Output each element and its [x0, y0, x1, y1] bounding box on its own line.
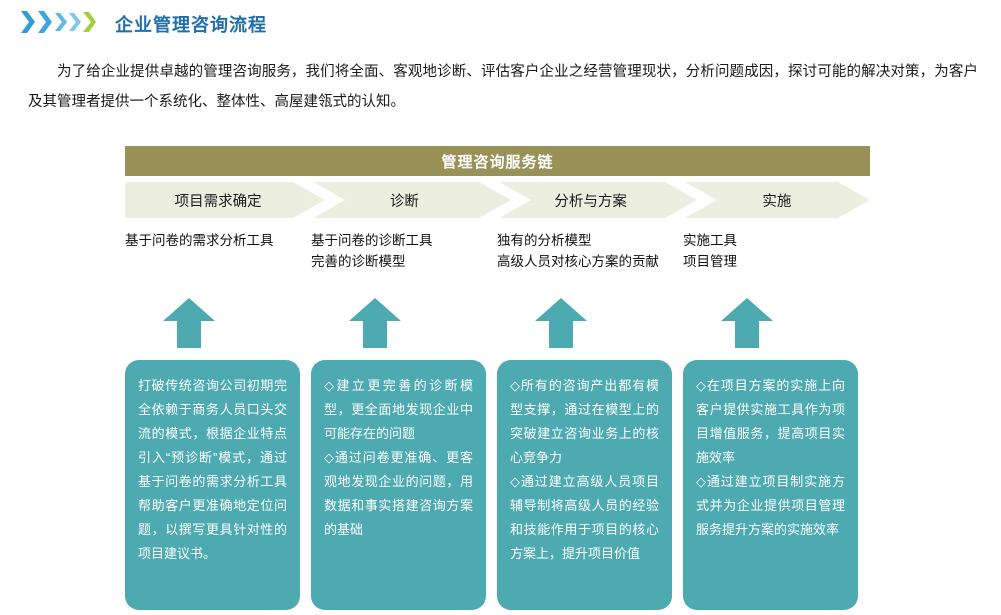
chevron-icon-4: [68, 9, 82, 40]
detail-card-text: ◇建立更完善的诊断模型，更全面地发现企业中可能存在的问题◇通过问卷更准确、更客观…: [324, 374, 473, 542]
service-chain-diagram: 管理咨询服务链 项目需求确定 诊断 分析与方案 实施: [125, 146, 870, 218]
stage-label-3: 分析与方案: [498, 182, 684, 218]
stage-label-2: 诊断: [311, 182, 497, 218]
arrow-up-icon-3: [535, 298, 587, 348]
service-chain-title: 管理咨询服务链: [125, 146, 870, 176]
stage-detail-line: 完善的诊断模型: [311, 251, 497, 272]
stage-detail-line: 基于问卷的需求分析工具: [125, 230, 311, 251]
arrow-up-icon-4: [721, 298, 773, 348]
stage-detail-line: 项目管理: [683, 251, 869, 272]
page-header: 企业管理咨询流程: [0, 0, 1001, 48]
detail-card-4: ◇在项目方案的实施上向客户提供实施工具作为项目增值服务，提高项目实施效率◇通过建…: [683, 360, 858, 610]
stage-detail-columns: 基于问卷的需求分析工具 基于问卷的诊断工具 完善的诊断模型 独有的分析模型 高级…: [125, 230, 885, 272]
detail-card-text: 打破传统咨询公司初期完全依赖于商务人员口头交流的模式，根据企业特点引入“预诊断”…: [138, 374, 287, 566]
stage-detail-line: 实施工具: [683, 230, 869, 251]
detail-card-2: ◇建立更完善的诊断模型，更全面地发现企业中可能存在的问题◇通过问卷更准确、更客观…: [311, 360, 486, 610]
stage-detail-column-3: 独有的分析模型 高级人员对核心方案的贡献: [497, 230, 683, 272]
stage-detail-line: 独有的分析模型: [497, 230, 683, 251]
intro-paragraph: 为了给企业提供卓越的管理咨询服务，我们将全面、客观地诊断、评估客户企业之经营管理…: [28, 57, 978, 117]
stage-arrow-band: 项目需求确定 诊断 分析与方案 实施: [125, 182, 870, 218]
detail-card-text: ◇所有的咨询产出都有模型支撑，通过在模型上的突破建立咨询业务上的核心竞争力◇通过…: [510, 374, 659, 566]
chevron-icon-3: [54, 9, 68, 40]
detail-card-text: ◇在项目方案的实施上向客户提供实施工具作为项目增值服务，提高项目实施效率◇通过建…: [696, 374, 845, 542]
stage-detail-column-4: 实施工具 项目管理: [683, 230, 869, 272]
stage-detail-line: 高级人员对核心方案的贡献: [497, 251, 683, 272]
page-title: 企业管理咨询流程: [115, 11, 267, 37]
detail-card-1: 打破传统咨询公司初期完全依赖于商务人员口头交流的模式，根据企业特点引入“预诊断”…: [125, 360, 300, 610]
detail-card-row: 打破传统咨询公司初期完全依赖于商务人员口头交流的模式，根据企业特点引入“预诊断”…: [125, 360, 890, 610]
stage-label-1: 项目需求确定: [125, 182, 311, 218]
arrow-up-icon-1: [163, 298, 215, 348]
stage-label-4: 实施: [684, 182, 870, 218]
stage-detail-line: 基于问卷的诊断工具: [311, 230, 497, 251]
chevron-icon-1: [20, 9, 37, 40]
upward-arrow-row: [125, 298, 885, 353]
stage-detail-column-1: 基于问卷的需求分析工具: [125, 230, 311, 272]
chevron-decoration-group: [20, 11, 97, 37]
detail-card-3: ◇所有的咨询产出都有模型支撑，通过在模型上的突破建立咨询业务上的核心竞争力◇通过…: [497, 360, 672, 610]
chevron-icon-5: [82, 9, 97, 40]
stage-detail-column-2: 基于问卷的诊断工具 完善的诊断模型: [311, 230, 497, 272]
chevron-icon-2: [37, 9, 54, 40]
arrow-up-icon-2: [349, 298, 401, 348]
stage-label-row: 项目需求确定 诊断 分析与方案 实施: [125, 182, 870, 218]
